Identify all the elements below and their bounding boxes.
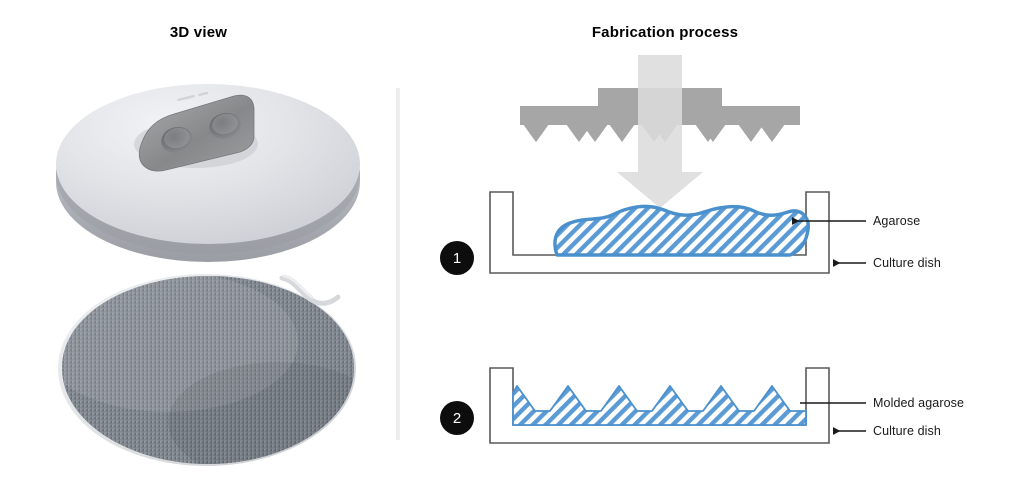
- label-molded-agarose: Molded agarose: [873, 396, 964, 410]
- label-culture-dish-1: Culture dish: [873, 256, 941, 270]
- step-badge-1: 1: [440, 241, 474, 275]
- molded-agarose-gel: [513, 386, 806, 425]
- press-down-arrow: [617, 55, 703, 208]
- step-1-diagram: [490, 192, 866, 273]
- label-culture-dish-2: Culture dish: [873, 424, 941, 438]
- step-2-diagram: [490, 368, 866, 443]
- label-agarose: Agarose: [873, 214, 920, 228]
- step-badge-2: 2: [440, 401, 474, 435]
- agarose-gel: [555, 206, 808, 255]
